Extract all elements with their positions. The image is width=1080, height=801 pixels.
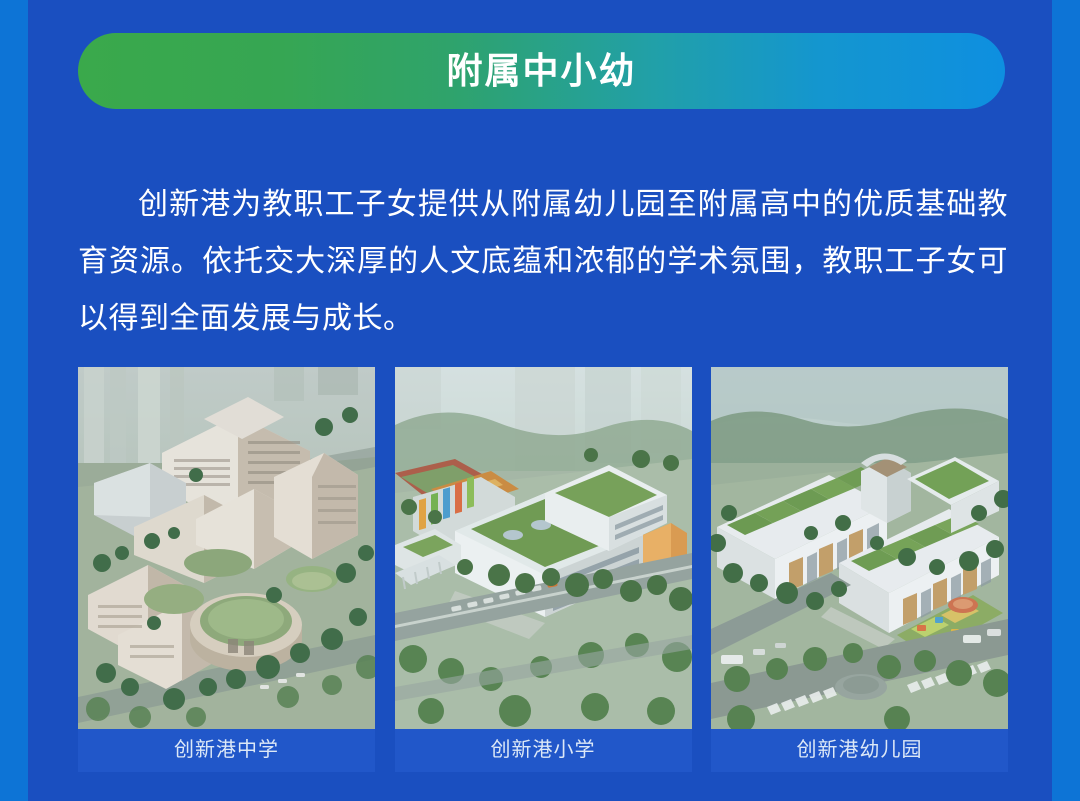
page-title: 附属中小幼 [446,53,636,89]
card-caption: 创新港小学 [491,729,596,772]
content-canvas: 附属中小幼 创新港为教职工子女提供从附属幼儿园至附属高中的优质基础教育资源。依托… [28,0,1052,801]
school-card-row: 创新港中学 [78,367,1008,777]
school-card-primary-school[interactable]: 创新港小学 [395,367,692,772]
card-caption: 创新港幼儿园 [797,729,923,772]
card-caption: 创新港中学 [174,729,279,772]
primary-school-aerial-render [395,367,692,729]
page-background: 附属中小幼 创新港为教职工子女提供从附属幼儿园至附属高中的优质基础教育资源。依托… [0,0,1080,801]
middle-school-aerial-render [78,367,375,729]
kindergarten-aerial-render [711,367,1008,729]
school-card-kindergarten[interactable]: 创新港幼儿园 [711,367,1008,772]
section-header-banner: 附属中小幼 [78,33,1005,109]
school-card-middle-school[interactable]: 创新港中学 [78,367,375,772]
intro-paragraph: 创新港为教职工子女提供从附属幼儿园至附属高中的优质基础教育资源。依托交大深厚的人… [78,176,1008,347]
